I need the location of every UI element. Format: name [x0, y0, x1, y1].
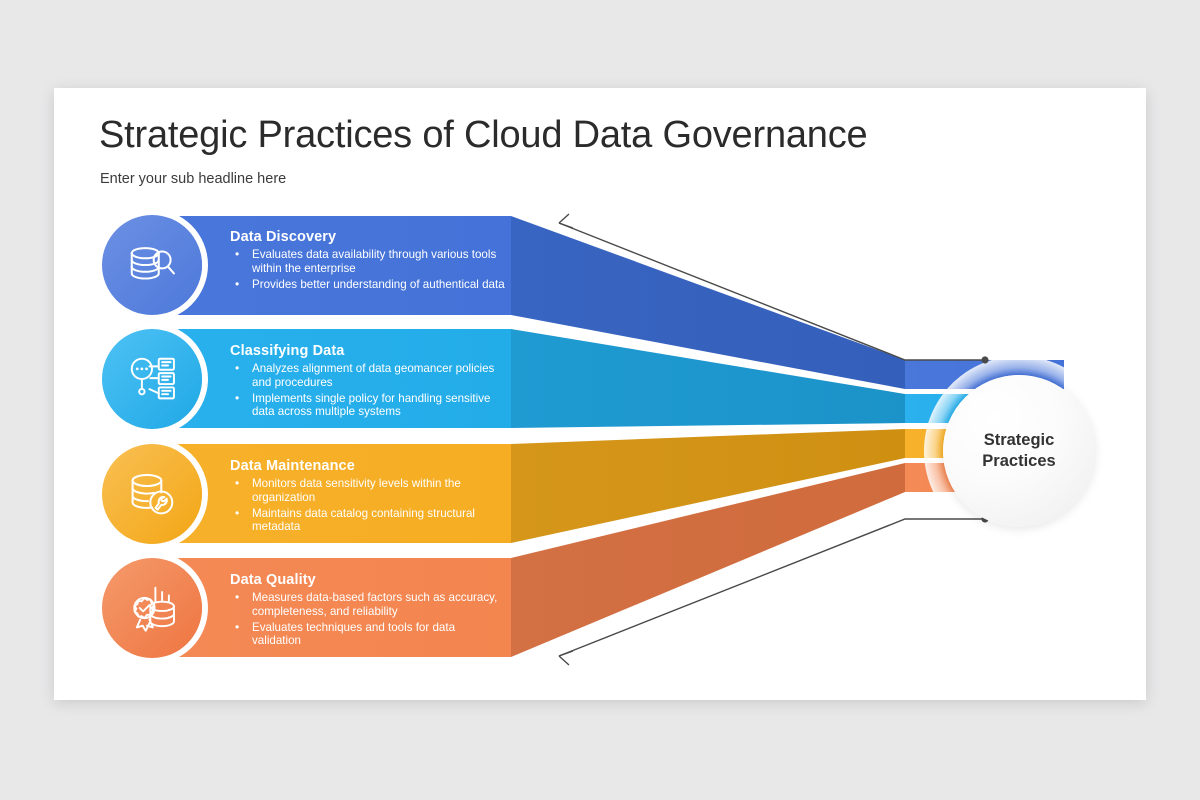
- list-item: Maintains data catalog containing struct…: [230, 507, 505, 534]
- database-wrench-icon: [125, 467, 179, 521]
- list-item: Measures data-based factors such as accu…: [230, 591, 505, 618]
- band-title: Data Quality: [230, 572, 505, 589]
- band-bullets: Evaluates data availability through vari…: [230, 248, 505, 291]
- band-text-data-maintenance: Data Maintenance Monitors data sensitivi…: [230, 458, 505, 536]
- hub-title-line-2: Practices: [982, 451, 1055, 472]
- band-text-data-discovery: Data Discovery Evaluates data availabili…: [230, 229, 505, 293]
- band-bullets: Measures data-based factors such as accu…: [230, 591, 505, 647]
- band-text-classifying-data: Classifying Data Analyzes alignment of d…: [230, 343, 505, 421]
- icon-circle-data-maintenance[interactable]: [102, 444, 202, 544]
- band-title: Data Maintenance: [230, 458, 505, 475]
- list-item: Evaluates data availability through vari…: [230, 248, 505, 275]
- band-title: Classifying Data: [230, 343, 505, 360]
- band-bullets: Analyzes alignment of data geomancer pol…: [230, 362, 505, 418]
- search-documents-icon: [125, 352, 179, 406]
- quality-badge-database-icon: [125, 581, 179, 635]
- band-text-data-quality: Data Quality Measures data-based factors…: [230, 572, 505, 650]
- slide-card: Strategic Practices of Cloud Data Govern…: [54, 88, 1146, 700]
- icon-circle-classifying-data[interactable]: [102, 329, 202, 429]
- list-item: Implements single policy for handling se…: [230, 392, 505, 419]
- band-bullets: Monitors data sensitivity levels within …: [230, 477, 505, 533]
- icon-circle-data-discovery[interactable]: [102, 215, 202, 315]
- list-item: Evaluates techniques and tools for data …: [230, 621, 505, 648]
- slide-canvas: Strategic Practices of Cloud Data Govern…: [0, 0, 1200, 800]
- list-item: Provides better understanding of authent…: [230, 278, 505, 292]
- hub-title-line-1: Strategic: [984, 430, 1055, 451]
- center-hub[interactable]: Strategic Practices: [943, 375, 1095, 527]
- band-title: Data Discovery: [230, 229, 505, 246]
- icon-circle-data-quality[interactable]: [102, 558, 202, 658]
- database-search-icon: [125, 238, 179, 292]
- list-item: Analyzes alignment of data geomancer pol…: [230, 362, 505, 389]
- list-item: Monitors data sensitivity levels within …: [230, 477, 505, 504]
